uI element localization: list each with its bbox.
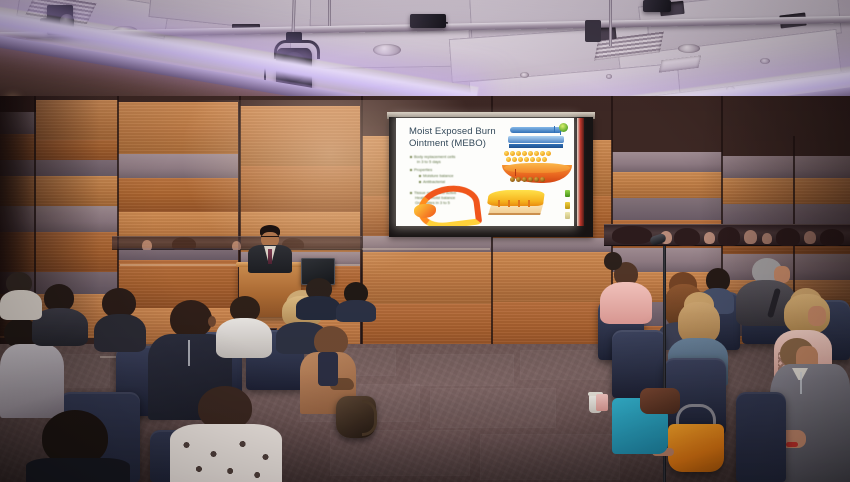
organization-logo-icon	[559, 123, 568, 132]
lanyard	[188, 340, 190, 366]
slide-bullet: in 3 to 5 days	[417, 159, 441, 164]
torso	[336, 300, 376, 322]
screen-right-edge	[577, 118, 584, 226]
ceiling-speaker	[373, 44, 401, 56]
ceiling-equipment-box	[643, 0, 671, 12]
attendee-far-left-edge	[0, 272, 42, 318]
cell-row	[510, 177, 545, 182]
blouse-pattern	[174, 434, 278, 482]
attendee-curly-hair-left	[94, 288, 146, 350]
torso	[0, 344, 64, 418]
head	[604, 252, 622, 270]
attendee-dark-suit-right-rear	[600, 252, 626, 276]
torso	[0, 290, 42, 320]
attendee-patterned-blouse	[170, 386, 282, 482]
torso	[216, 318, 272, 358]
ear	[208, 316, 216, 327]
ceiling-equipment-box	[410, 14, 446, 28]
slide-bullet: Properties	[410, 167, 432, 172]
ceiling-speaker	[760, 58, 770, 64]
attendee-rear-silhouette	[336, 282, 376, 318]
leather-handbag	[640, 388, 680, 414]
glasses-icon	[261, 236, 279, 241]
lanyard	[800, 372, 802, 394]
chair	[736, 392, 786, 482]
ceiling-speaker	[520, 72, 529, 78]
hanger-rod	[609, 0, 612, 46]
spotlight-knob	[286, 32, 302, 42]
arrow-marker	[515, 169, 516, 176]
hanger-rod	[328, 0, 331, 26]
cell-row	[506, 157, 547, 162]
attendee-white-shirt-left	[216, 296, 272, 356]
presenter-tie	[268, 249, 272, 264]
presenter	[247, 225, 293, 269]
orange-tote-bag	[668, 424, 724, 472]
layered-dressing-diagram	[508, 124, 566, 150]
attendee-dark-hair-front-left	[26, 410, 130, 482]
black-backpack	[336, 396, 376, 438]
head	[170, 300, 212, 338]
lecture-hall-photo: Moist Exposed Burn Ointment (MEBO) Body …	[0, 0, 850, 482]
attendee-rear-silhouette	[296, 278, 340, 316]
status-indicator-pale-icon	[565, 212, 570, 219]
face	[808, 306, 826, 326]
slide-surface: Moist Exposed Burn Ointment (MEBO) Body …	[396, 118, 574, 226]
skin-cross-section-cells	[502, 151, 572, 185]
trouser-leg	[318, 352, 338, 386]
projection-screen: Moist Exposed Burn Ointment (MEBO) Body …	[387, 112, 595, 240]
wristband	[786, 442, 798, 447]
slide-bullet: Moisture balance	[419, 173, 453, 178]
torso	[26, 458, 130, 482]
torso	[296, 296, 340, 320]
sprinkler-head	[606, 74, 612, 79]
pink-cup	[596, 394, 608, 411]
ointment-ribbon	[414, 184, 476, 222]
torso	[600, 282, 652, 324]
status-indicator-yellow-icon	[565, 202, 570, 209]
torso	[94, 314, 146, 352]
slide-title: Moist Exposed Burn Ointment (MEBO)	[409, 126, 514, 149]
cell-row	[504, 151, 551, 156]
ceiling-speaker	[678, 44, 700, 53]
truss-clamp	[585, 20, 601, 42]
wound-bed-diagram	[488, 188, 544, 220]
status-indicator-green-icon	[565, 190, 570, 197]
